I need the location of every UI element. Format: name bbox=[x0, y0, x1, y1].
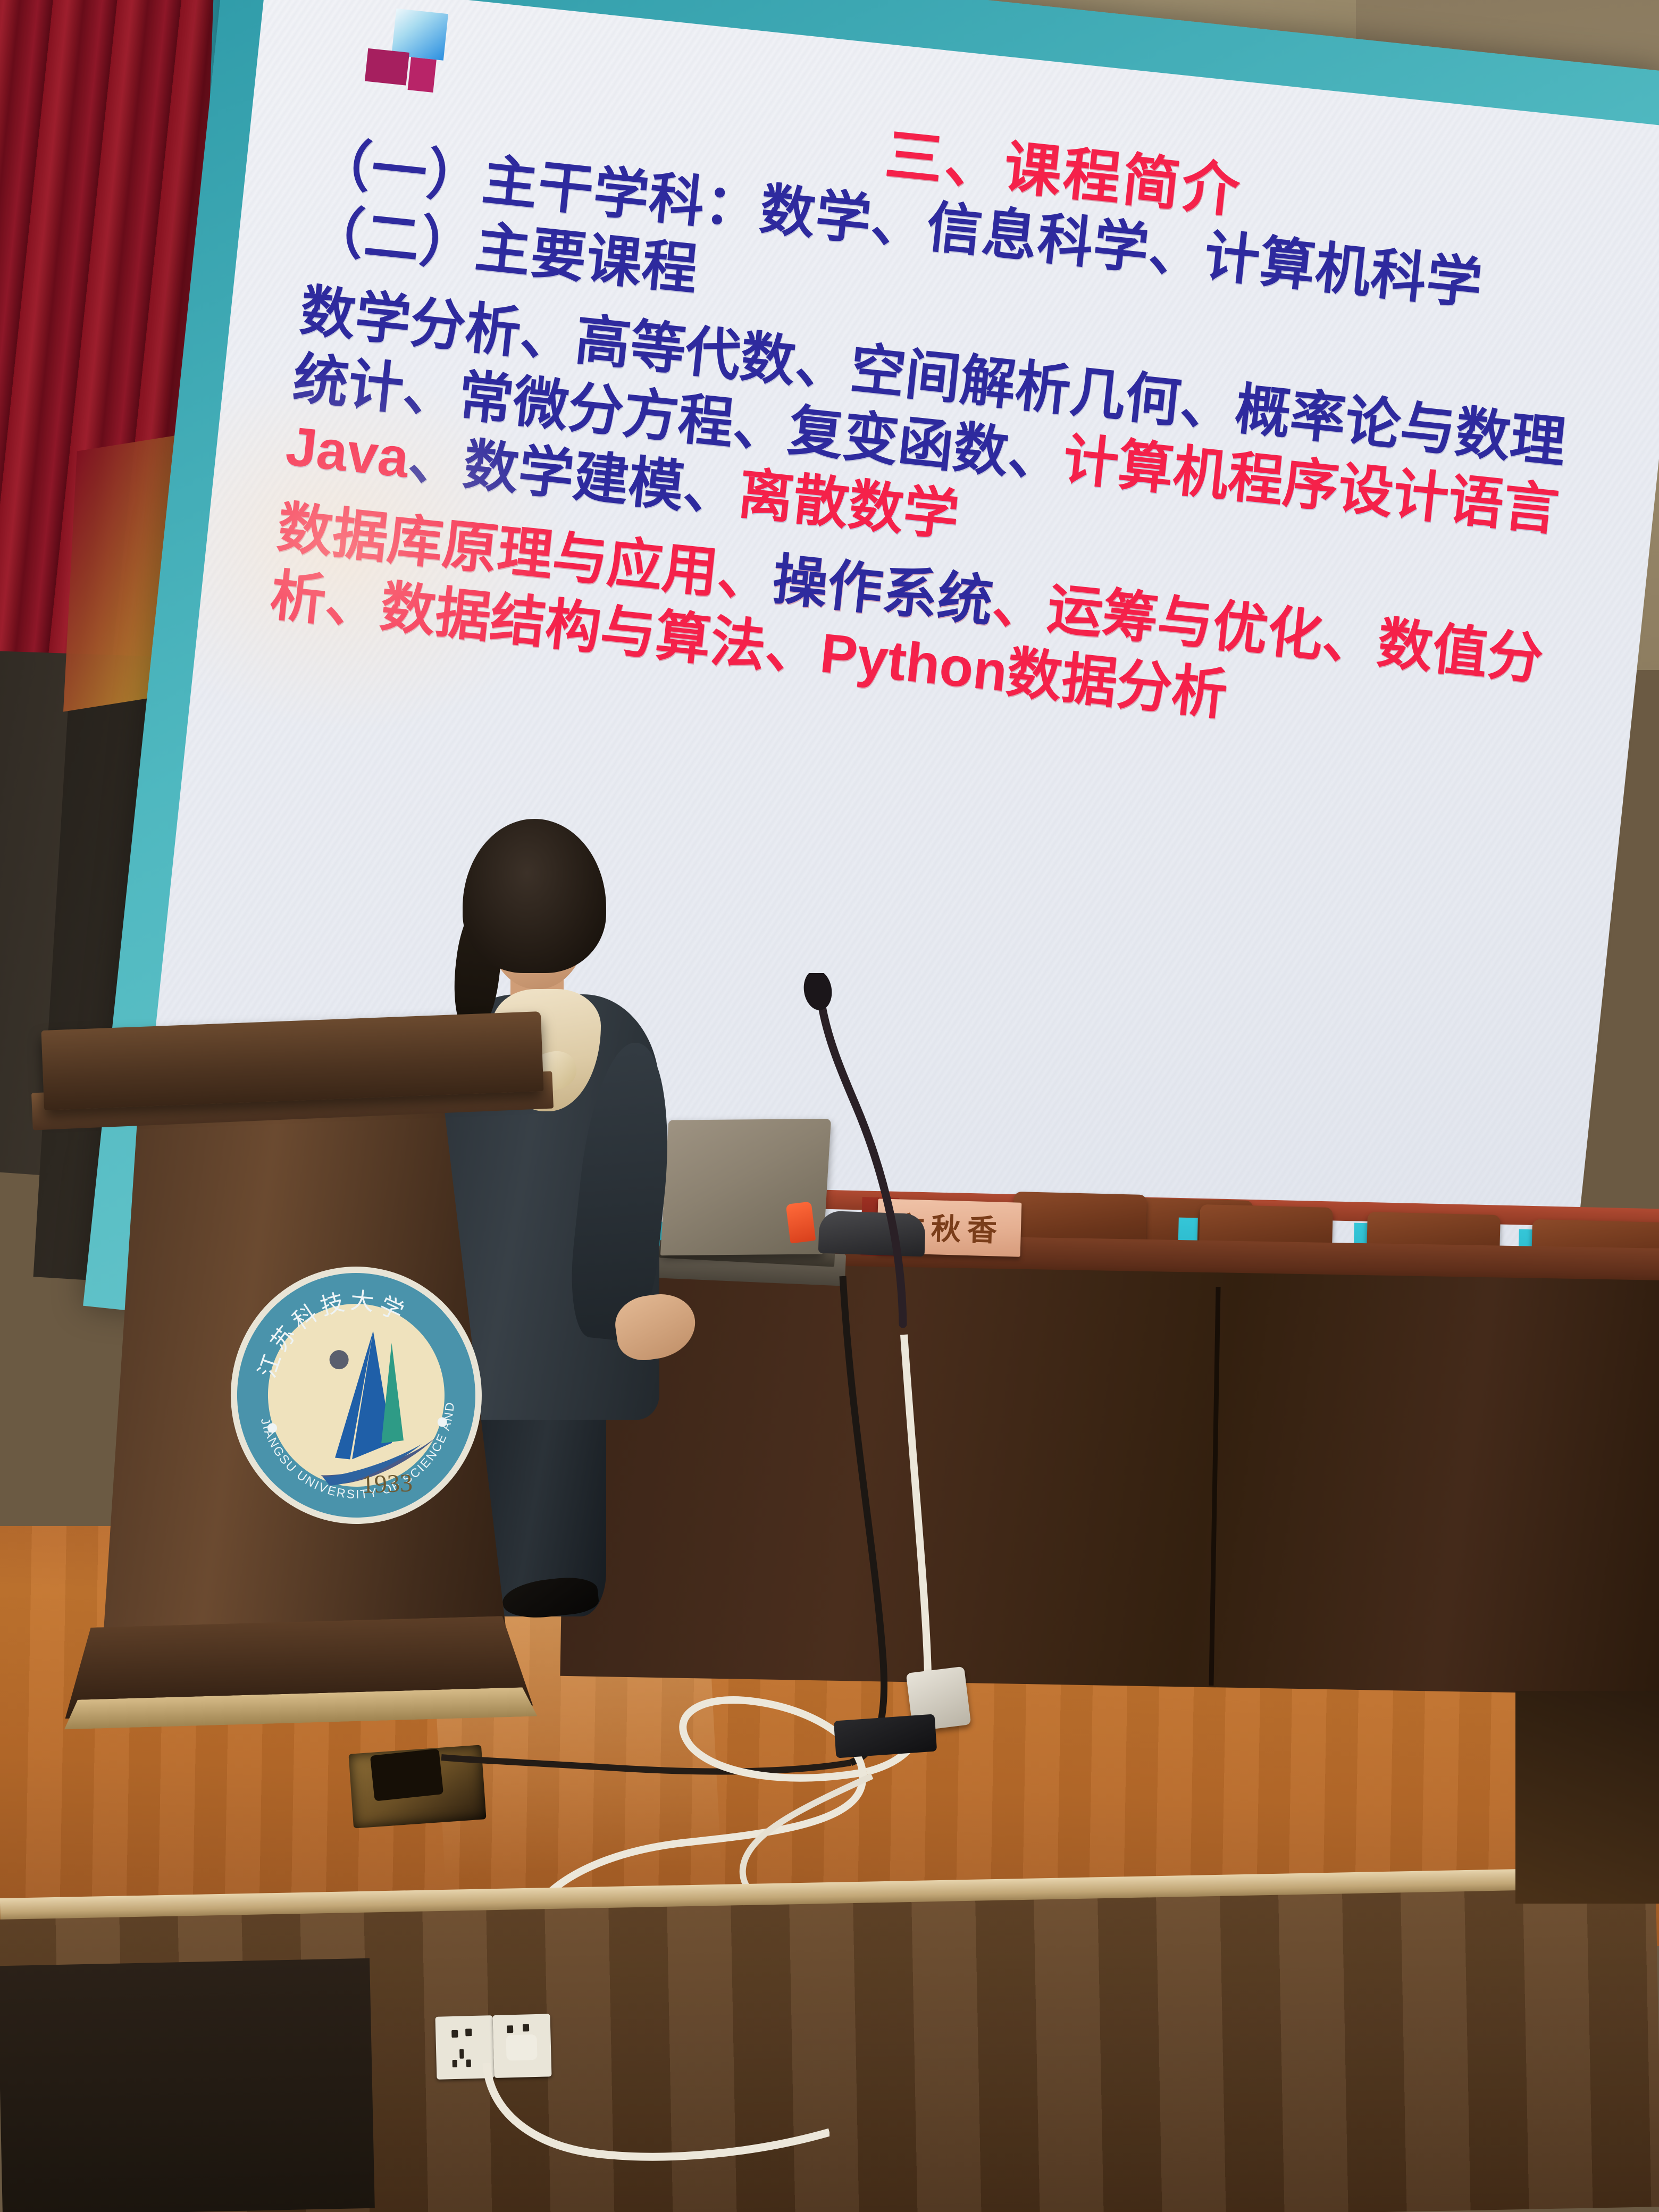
slide-content: 三、课程简介 （一）主干学科：数学、信息科学、计算机科学 （二）主要课程 数学分… bbox=[267, 65, 1632, 767]
microphone-capsule bbox=[801, 973, 834, 1012]
cable-connector-box bbox=[834, 1714, 937, 1758]
stage-front-dark-panel bbox=[0, 1958, 375, 2212]
outlet-hole bbox=[523, 2024, 529, 2031]
socket-cord bbox=[457, 2052, 829, 2212]
outlet-hole bbox=[465, 2029, 472, 2036]
outlet-hole bbox=[451, 2030, 458, 2038]
outlet-hole bbox=[507, 2025, 513, 2033]
power-cord bbox=[904, 1335, 928, 1675]
mic-cable bbox=[843, 1276, 884, 1763]
presenter-hair bbox=[463, 819, 606, 973]
slide-java-label: Java bbox=[283, 415, 412, 490]
stage-right-shadow bbox=[1515, 1691, 1659, 1904]
lecture-hall-photo: 三、课程简介 （一）主干学科：数学、信息科学、计算机科学 （二）主要课程 数学分… bbox=[0, 0, 1659, 2212]
outlet-hole bbox=[453, 2060, 457, 2067]
